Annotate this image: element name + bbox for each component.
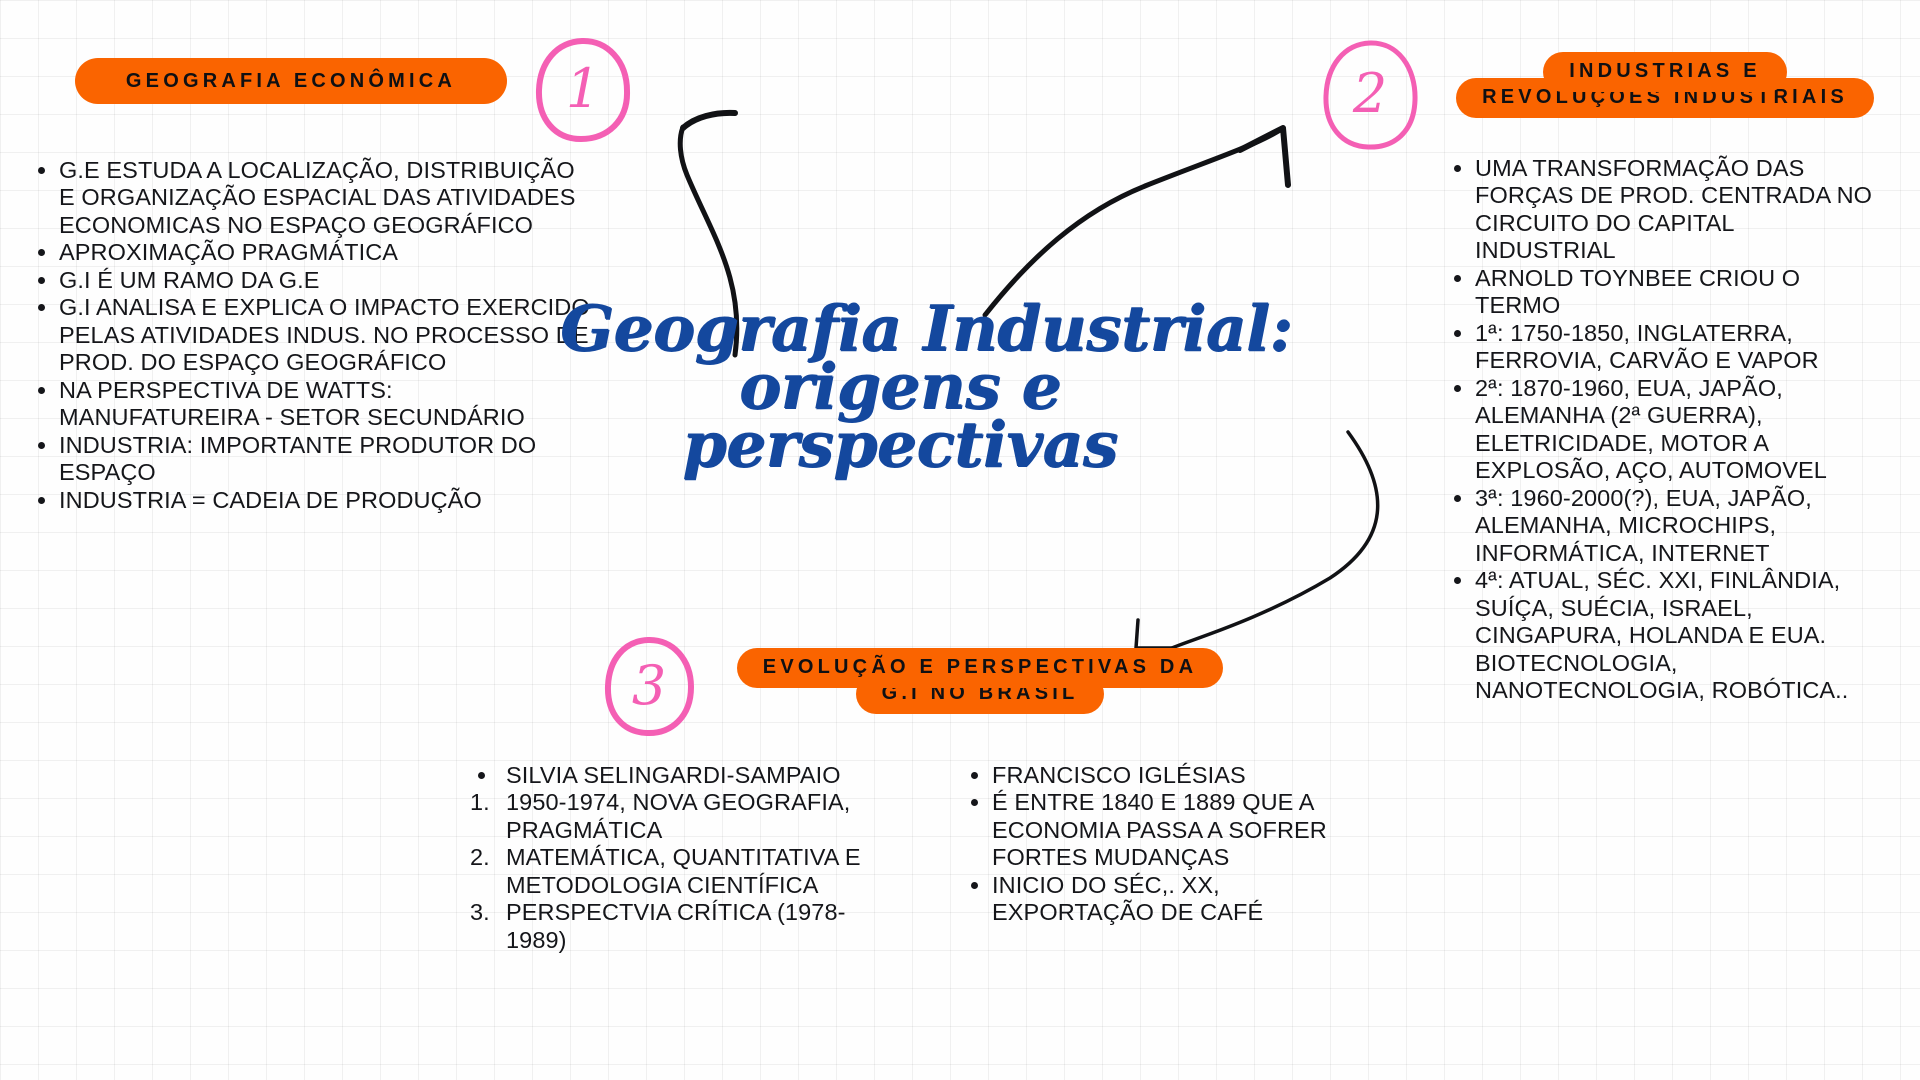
list-item: 1950-1974, NOVA GEOGRAFIA, PRAGMÁTICA <box>468 789 868 844</box>
arrow-head-one <box>683 113 735 128</box>
list-item: 4ª: ATUAL, SÉC. XXI, FINLÂNDIA, SUÍÇA, S… <box>1448 567 1876 704</box>
list-item: NA PERSPECTIVA DE WATTS: MANUFATUREIRA -… <box>32 377 592 432</box>
list-item: FRANCISCO IGLÉSIAS <box>965 762 1335 789</box>
mindmap-canvas: GEOGRAFIA ECONÔMICA 1 G.E ESTUDA A LOCAL… <box>0 0 1920 1080</box>
arrow-head-two <box>1240 128 1288 185</box>
marker-circle-two: 2 <box>1320 38 1420 152</box>
list-item: G.I ANALISA E EXPLICA O IMPACTO EXERCIDO… <box>32 294 592 376</box>
list-item: ARNOLD TOYNBEE CRIOU O TERMO <box>1448 265 1876 320</box>
heading-evolucao-line1: EVOLUÇÃO E PERSPECTIVAS DA <box>737 648 1223 688</box>
marker-circle-three: 3 <box>603 635 695 739</box>
list-item: APROXIMAÇÃO PRAGMÁTICA <box>32 239 592 266</box>
list-item: 3ª: 1960-2000(?), EUA, JAPÃO, ALEMANHA, … <box>1448 485 1876 567</box>
marker-circle-two-label: 2 <box>1320 38 1420 152</box>
page-title: Geografia Industrial: origens e perspect… <box>560 300 1240 474</box>
list-item: INDUSTRIA: IMPORTANTE PRODUTOR DO ESPAÇO <box>32 432 592 487</box>
arrow-to-section-two <box>985 128 1283 315</box>
list-item: 1ª: 1750-1850, INGLATERRA, FERROVIA, CAR… <box>1448 320 1876 375</box>
heading-geografia-economica: GEOGRAFIA ECONÔMICA <box>75 58 507 104</box>
list-item: MATEMÁTICA, QUANTITATIVA E METODOLOGIA C… <box>468 844 868 899</box>
marker-circle-one: 1 <box>535 35 631 145</box>
marker-circle-one-label: 1 <box>535 35 631 145</box>
list-item: SILVIA SELINGARDI-SAMPAIO <box>468 762 868 789</box>
heading-evolucao-perspectivas: EVOLUÇÃO E PERSPECTIVAS DA G.I NO BRASIL <box>700 648 1260 714</box>
list-industrias-revolucoes: UMA TRANSFORMAÇÃO DAS FORÇAS DE PROD. CE… <box>1448 155 1876 705</box>
list-item: PERSPECTVIA CRÍTICA (1978-1989) <box>468 899 868 954</box>
list-item: INICIO DO SÉC,. XX, EXPORTAÇÃO DE CAFÉ <box>965 872 1335 927</box>
list-geografia-economica: G.E ESTUDA A LOCALIZAÇÃO, DISTRIBUIÇÃO E… <box>32 157 592 514</box>
list-evolucao-right: FRANCISCO IGLÉSIAS É ENTRE 1840 E 1889 Q… <box>965 762 1335 927</box>
list-item: 2ª: 1870-1960, EUA, JAPÃO, ALEMANHA (2ª … <box>1448 375 1876 485</box>
marker-circle-three-label: 3 <box>603 635 695 739</box>
heading-industrias-line1: INDUSTRIAS E <box>1543 52 1787 92</box>
list-item: G.E ESTUDA A LOCALIZAÇÃO, DISTRIBUIÇÃO E… <box>32 157 592 239</box>
list-item: G.I É UM RAMO DA G.E <box>32 267 592 294</box>
heading-industrias-revolucoes: INDUSTRIAS E REVOLUÇÕES INDUSTRIAIS <box>1440 52 1890 118</box>
list-item: UMA TRANSFORMAÇÃO DAS FORÇAS DE PROD. CE… <box>1448 155 1876 265</box>
list-evolucao-left: SILVIA SELINGARDI-SAMPAIO 1950-1974, NOV… <box>468 762 868 954</box>
list-item: INDUSTRIA = CADEIA DE PRODUÇÃO <box>32 487 592 514</box>
list-item: É ENTRE 1840 E 1889 QUE A ECONOMIA PASSA… <box>965 789 1335 871</box>
heading-geografia-economica-label: GEOGRAFIA ECONÔMICA <box>126 69 456 94</box>
page-title-line3: perspectivas <box>560 416 1240 474</box>
arrow-head-three <box>1136 620 1172 648</box>
